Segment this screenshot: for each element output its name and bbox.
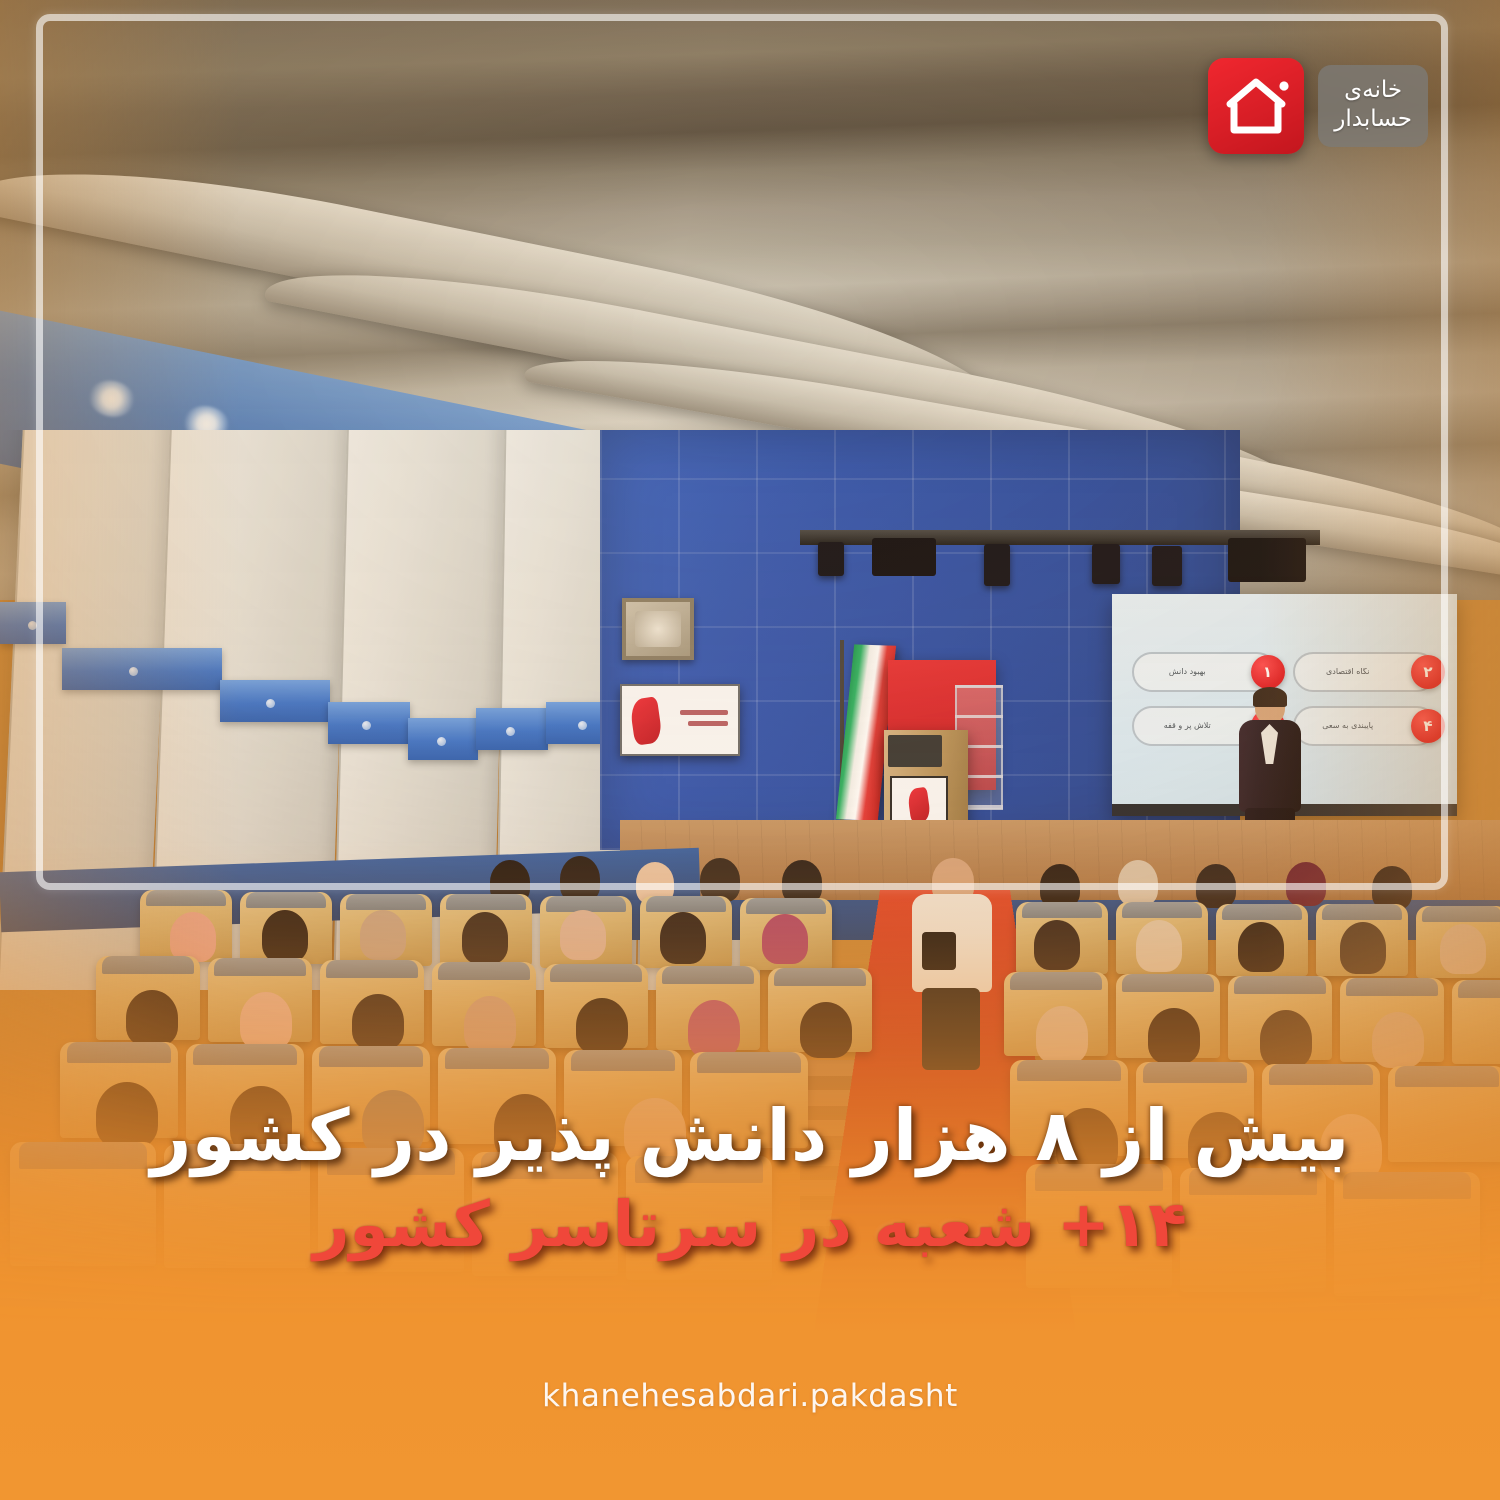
slide-item: پایبندی به سعی ۴ <box>1293 706 1438 746</box>
venue-photo: نگاه اقتصادی ۲ بهبود دانش ۱ پایبندی به س… <box>0 0 1500 1500</box>
slide-item-number: ۱ <box>1251 655 1285 689</box>
camera-operator-legs <box>922 988 980 1070</box>
audience-person <box>1238 922 1284 972</box>
stage-light-icon <box>1092 544 1120 584</box>
headline-block: بیش از ۸ هزار دانش پذیر در کشور ۱۴+ شعبه… <box>0 1098 1500 1259</box>
audience-person <box>1136 920 1182 972</box>
brand-logo-icon <box>629 696 663 745</box>
audience-person <box>352 994 404 1050</box>
audience-person <box>660 912 706 964</box>
monitor-text-line <box>680 710 728 715</box>
audience-person <box>1286 862 1326 906</box>
spotlight-icon <box>86 376 138 420</box>
speaker-box-icon <box>1228 538 1306 582</box>
logo-wordmark-line2: حسابدار <box>1334 107 1412 133</box>
side-monitor <box>620 684 740 756</box>
wall-blue-band <box>0 602 66 644</box>
brand-logo-icon <box>907 787 932 823</box>
presenter-hair <box>1253 687 1287 707</box>
wall-blue-band <box>328 702 410 744</box>
wall-plaque <box>622 598 694 660</box>
audience-person <box>1440 924 1486 974</box>
camera-icon <box>922 932 956 970</box>
audience-person <box>1148 1008 1200 1064</box>
stage-light-icon <box>984 544 1010 586</box>
audience-person <box>1372 1012 1424 1068</box>
slide-item: بهبود دانش ۱ <box>1132 652 1277 692</box>
slide-item: نگاه اقتصادی ۲ <box>1293 652 1438 692</box>
wall-blue-band <box>408 718 478 760</box>
slide-item-label: پایبندی به سعی <box>1305 722 1392 730</box>
monitor-text-line <box>688 721 728 726</box>
stage-light-icon <box>818 542 844 576</box>
speaker-box-icon <box>872 538 936 576</box>
audience-person <box>464 996 516 1054</box>
audience-person <box>1034 920 1080 970</box>
brand-logo[interactable]: خانه‌ی حسابدار <box>1208 58 1428 154</box>
audience-person <box>688 1000 740 1058</box>
seat <box>1452 980 1500 1064</box>
slide-item-number: ۲ <box>1411 655 1445 689</box>
audience-person <box>1118 860 1158 906</box>
audience-person <box>126 990 178 1046</box>
house-roof-icon <box>1208 58 1304 154</box>
audience-person <box>1260 1010 1312 1068</box>
audience-person <box>462 912 508 964</box>
audience-person <box>240 992 292 1050</box>
social-handle[interactable]: khanehesabdari.pakdasht <box>0 1378 1500 1414</box>
audience-person <box>1036 1006 1088 1064</box>
podium-top <box>888 735 942 767</box>
headline-secondary: ۱۴+ شعبه در سرتاسر کشور <box>0 1191 1500 1259</box>
logo-wordmark: خانه‌ی حسابدار <box>1318 65 1428 148</box>
slide-item-label: بهبود دانش <box>1144 668 1231 676</box>
audience-person <box>576 998 628 1054</box>
headline-primary: بیش از ۸ هزار دانش پذیر در کشور <box>0 1098 1500 1175</box>
stage-light-icon <box>1152 546 1182 586</box>
audience-person <box>800 1002 852 1058</box>
wall-blue-band <box>62 648 222 690</box>
audience-person <box>360 910 406 960</box>
slide-item-label: تلاش پر و قفه <box>1144 722 1231 730</box>
wall-blue-band <box>476 708 548 750</box>
audience-person <box>1196 864 1236 908</box>
slide-item-number: ۴ <box>1411 709 1445 743</box>
wall-blue-band <box>220 680 330 722</box>
audience-person <box>170 912 216 962</box>
audience-person <box>1340 922 1386 974</box>
audience-person <box>762 914 808 964</box>
logo-wordmark-line1: خانه‌ی <box>1344 78 1402 104</box>
audience-person <box>262 910 308 962</box>
audience-person <box>560 910 606 960</box>
slide-item-label: نگاه اقتصادی <box>1305 668 1392 676</box>
social-media-poster: نگاه اقتصادی ۲ بهبود دانش ۱ پایبندی به س… <box>0 0 1500 1500</box>
